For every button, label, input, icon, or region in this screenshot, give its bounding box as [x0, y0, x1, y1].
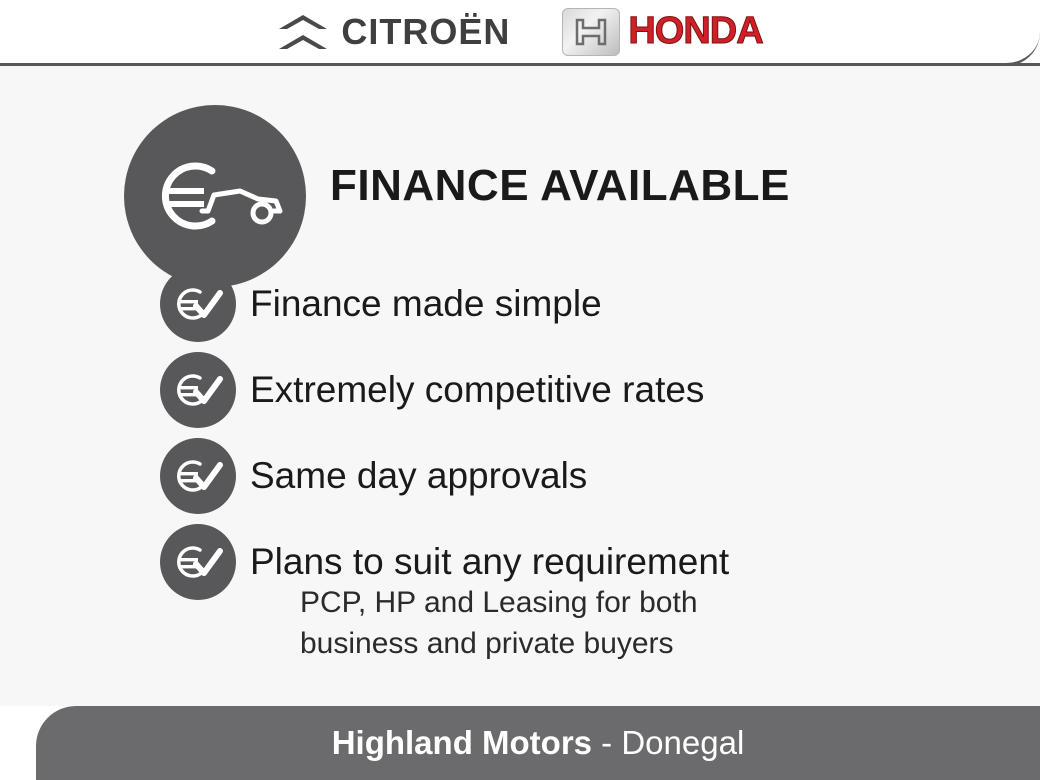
bullet-label-3: Same day approvals — [250, 455, 587, 497]
bullet-subtext-line-2: business and private buyers — [300, 624, 698, 665]
euro-car-finance-icon — [124, 105, 306, 287]
bullet-item-1: Finance made simple — [160, 266, 602, 342]
bullet-item-2: Extremely competitive rates — [160, 352, 704, 428]
dealer-location: Donegal — [621, 724, 744, 761]
bullet-subtext: PCP, HP and Leasing for both business an… — [300, 583, 698, 664]
bullet-label-2: Extremely competitive rates — [250, 369, 704, 411]
honda-wordmark: HONDA — [628, 10, 762, 53]
page-title: FINANCE AVAILABLE — [330, 161, 790, 211]
brand-header-bar: CITROËN HONDA — [0, 0, 1040, 66]
brand-logos: CITROËN HONDA — [0, 0, 1040, 63]
bullet-label-4: Plans to suit any requirement — [250, 541, 729, 583]
citroen-wordmark: CITROËN — [341, 11, 510, 53]
flyer-page: CITROËN HONDA — [0, 0, 1040, 780]
header-rounded-corner — [980, 0, 1040, 66]
honda-h-emblem-icon — [562, 8, 620, 56]
euro-check-icon — [160, 352, 236, 428]
dealer-name-separator: - — [592, 724, 621, 761]
dealer-name-primary: Highland Motors — [332, 724, 592, 761]
main-content-panel: FINANCE AVAILABLE Finance made simple — [0, 66, 1040, 706]
euro-check-icon — [160, 524, 236, 600]
citroen-double-chevron-icon — [277, 12, 329, 52]
euro-check-icon — [160, 438, 236, 514]
bullet-item-3: Same day approvals — [160, 438, 587, 514]
citroen-logo: CITROËN — [277, 11, 510, 53]
bullet-label-1: Finance made simple — [250, 283, 602, 325]
honda-logo: HONDA — [562, 8, 762, 56]
footer-band: Highland Motors - Donegal — [36, 706, 1040, 780]
euro-check-icon — [160, 266, 236, 342]
bullet-subtext-line-1: PCP, HP and Leasing for both — [300, 583, 698, 624]
footer: Highland Motors - Donegal — [0, 706, 1040, 780]
dealer-name: Highland Motors - Donegal — [332, 724, 745, 762]
